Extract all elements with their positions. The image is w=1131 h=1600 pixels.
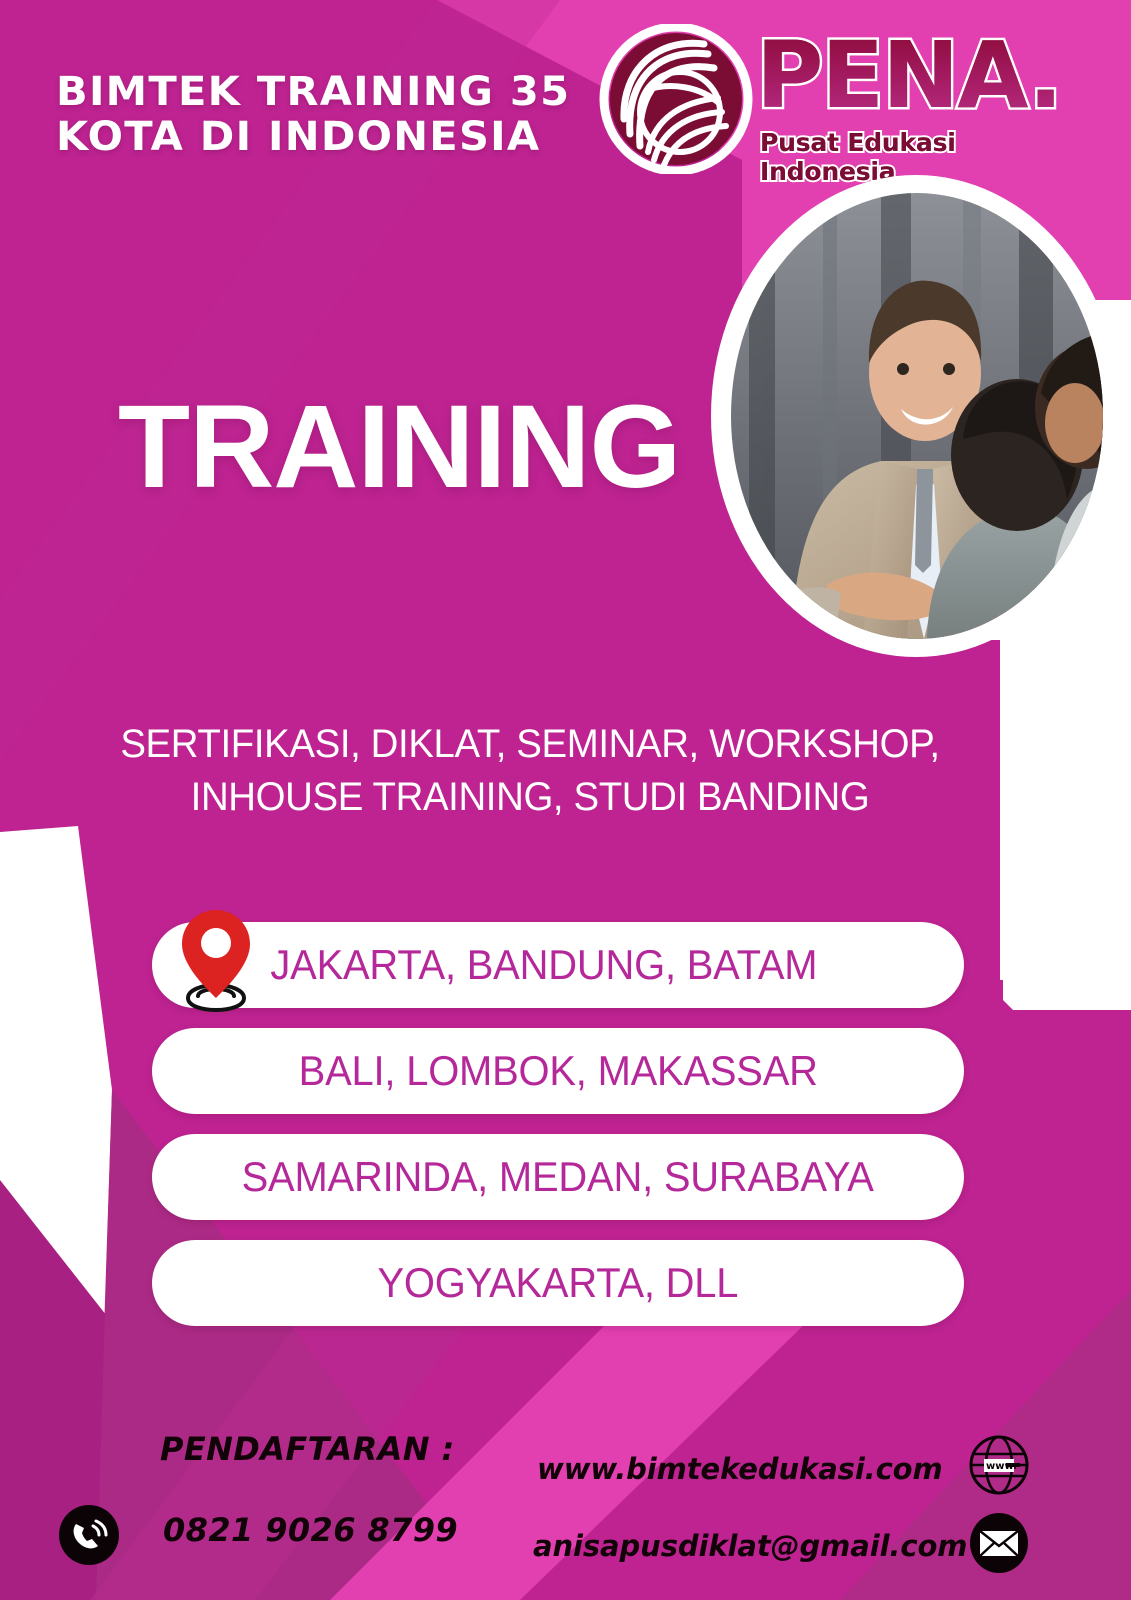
city-pill-label: SAMARINDA, MEDAN, SURABAYA (242, 1153, 874, 1201)
subtitle-line-1: SERTIFIKASI, DIKLAT, SEMINAR, WORKSHOP, (79, 718, 981, 771)
pena-logo: PENA. PENA. Pusat Edukasi Indonesia Pusa… (596, 24, 1096, 174)
city-pill-4[interactable]: YOGYAKARTA, DLL (152, 1240, 964, 1326)
page-headline: BIMTEK TRAINING 35 KOTA DI INDONESIA (56, 70, 597, 160)
website-url[interactable]: www.bimtekedukasi.com (537, 1452, 943, 1486)
photo-circle-frame (711, 175, 1121, 657)
registration-label: PENDAFTARAN : (160, 1430, 455, 1468)
city-pill-3[interactable]: SAMARINDA, MEDAN, SURABAYA (152, 1134, 964, 1220)
email-address[interactable]: anisapusdiklat@gmail.com (533, 1529, 967, 1563)
city-pill-1[interactable]: JAKARTA, BANDUNG, BATAM (152, 922, 964, 1008)
city-pill-label: JAKARTA, BANDUNG, BATAM (270, 941, 817, 989)
location-pin-icon (174, 906, 258, 1014)
envelope-email-icon[interactable] (968, 1512, 1030, 1574)
handshake-photo-illustration (731, 193, 1103, 639)
city-pill-label: YOGYAKARTA, DLL (378, 1259, 739, 1307)
subtitle-line-2: INHOUSE TRAINING, STUDI BANDING (79, 771, 981, 824)
handshake-photo (731, 193, 1103, 639)
phone-number[interactable]: 0821 9026 8799 (163, 1511, 458, 1549)
pena-feather-circle-emblem-icon (596, 24, 756, 174)
contact-footer: PENDAFTARAN : 0821 9026 8799 www.bimteke… (0, 1424, 1131, 1600)
headline-text: BIMTEK TRAINING 35 KOTA DI INDONESIA (56, 69, 570, 160)
city-pill-2[interactable]: BALI, LOMBOK, MAKASSAR (152, 1028, 964, 1114)
city-pill-label: BALI, LOMBOK, MAKASSAR (298, 1047, 817, 1095)
subtitle: SERTIFIKASI, DIKLAT, SEMINAR, WORKSHOP, … (79, 718, 981, 824)
promotional-poster: BIMTEK TRAINING 35 KOTA DI INDONESIA PEN (0, 0, 1131, 1600)
phone-call-icon[interactable] (58, 1504, 120, 1566)
city-list: JAKARTA, BANDUNG, BATAM BALI, LOMBOK, MA… (152, 922, 964, 1346)
page-title: TRAINING (118, 388, 680, 506)
globe-www-icon[interactable]: www. (968, 1434, 1030, 1496)
pena-wordmark: PENA. (756, 32, 1061, 119)
pena-wordmark-group: PENA. PENA. Pusat Edukasi Indonesia Pusa… (756, 32, 1096, 172)
